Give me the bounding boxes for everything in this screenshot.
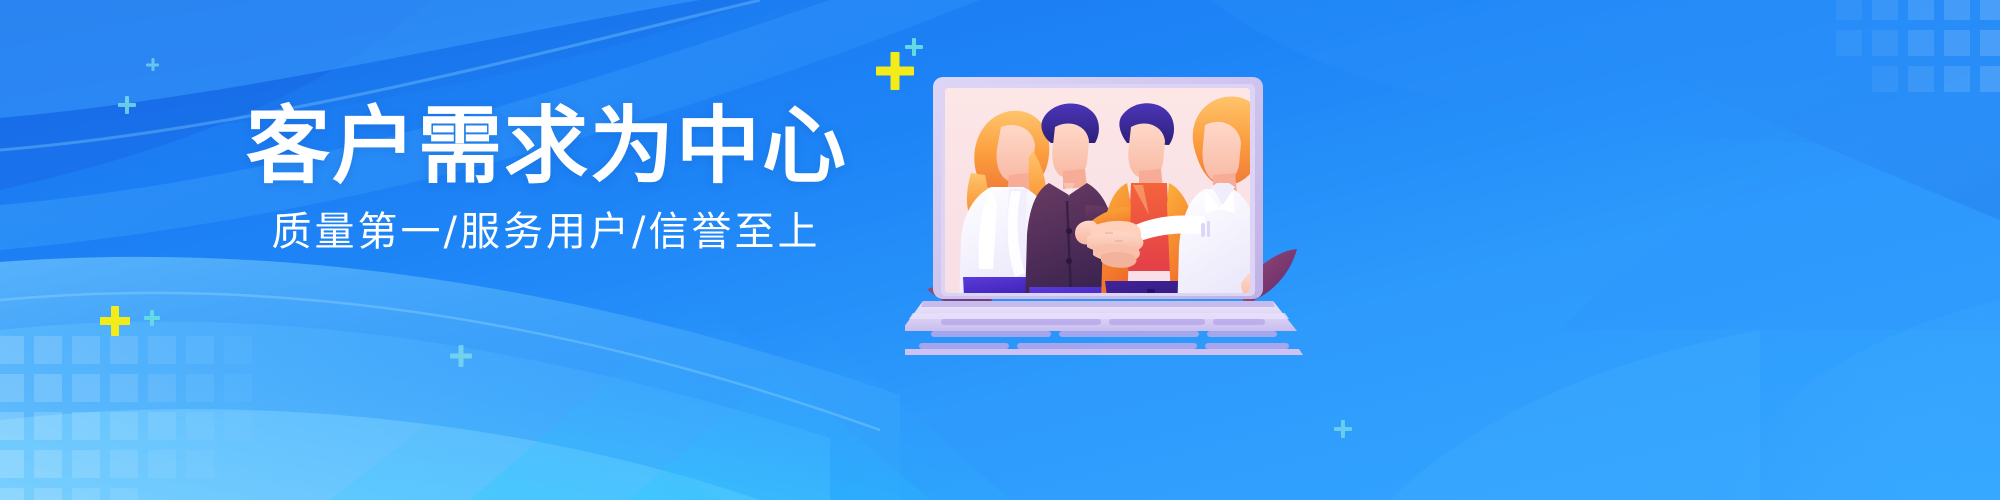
plus-yellow-bottom-left-icon	[100, 306, 130, 336]
plus-cyan-small-top-icon	[905, 38, 923, 56]
plus-cyan-left-mid-icon	[118, 96, 136, 114]
plus-cyan-left-low-icon	[146, 58, 159, 71]
page-title: 客户需求为中心	[246, 104, 846, 188]
headline-block: 客户需求为中心 质量第一/服务用户/信誉至上	[246, 104, 846, 254]
dot-grid-left	[0, 336, 252, 500]
plus-cyan-center-bottom-icon	[450, 345, 472, 367]
promo-banner: 客户需求为中心 质量第一/服务用户/信誉至上	[0, 0, 2000, 500]
plus-cyan-right-bottom-icon	[1334, 420, 1352, 438]
teamwork-laptop-illustration	[905, 55, 1325, 355]
plus-yellow-large-icon	[876, 52, 914, 90]
plus-cyan-bottom-left-icon	[144, 310, 160, 326]
laptop-base	[905, 301, 1303, 355]
dot-grid-right	[1836, 0, 2000, 92]
page-subtitle: 质量第一/服务用户/信誉至上	[246, 210, 846, 254]
